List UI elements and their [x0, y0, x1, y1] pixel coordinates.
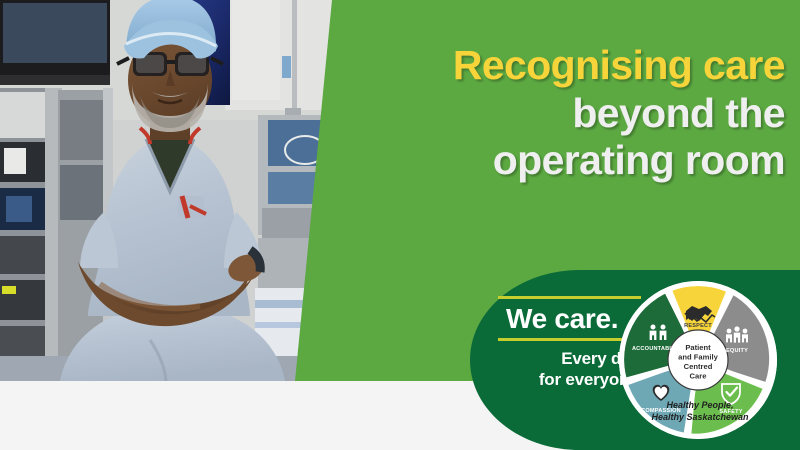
headline-line-2: beyond the: [360, 90, 785, 138]
wheel-label-respect: RESPECT: [684, 323, 712, 329]
wheel-tagline-line-1: Healthy People,: [666, 400, 733, 410]
patient-family-centred-care-wheel: Patient and Family Centred Care RESPECT: [618, 280, 778, 440]
headline-line-1: Recognising care: [360, 42, 785, 90]
wheel-tagline-line-2: Healthy Saskatchewan: [651, 412, 749, 422]
wheel-label-equity: EQUITY: [726, 348, 748, 354]
wheel-center-line-4: Care: [690, 372, 707, 381]
wheel-center-line-1: Patient: [685, 343, 711, 352]
promotional-banner: Recognising care beyond the operating ro…: [0, 0, 800, 450]
wheel-center-line-2: and Family: [678, 353, 718, 362]
surgeon-photo-illustration: [0, 0, 340, 381]
headline: Recognising care beyond the operating ro…: [360, 42, 785, 185]
wheel-label-accountability: ACCOUNTABILITY: [632, 346, 684, 352]
we-care-panel: We care. Every day, for everyone.: [470, 270, 800, 450]
surgeon-photo: [0, 0, 340, 381]
wheel-center-line-3: Centred: [684, 362, 713, 371]
headline-line-3: operating room: [360, 137, 785, 185]
